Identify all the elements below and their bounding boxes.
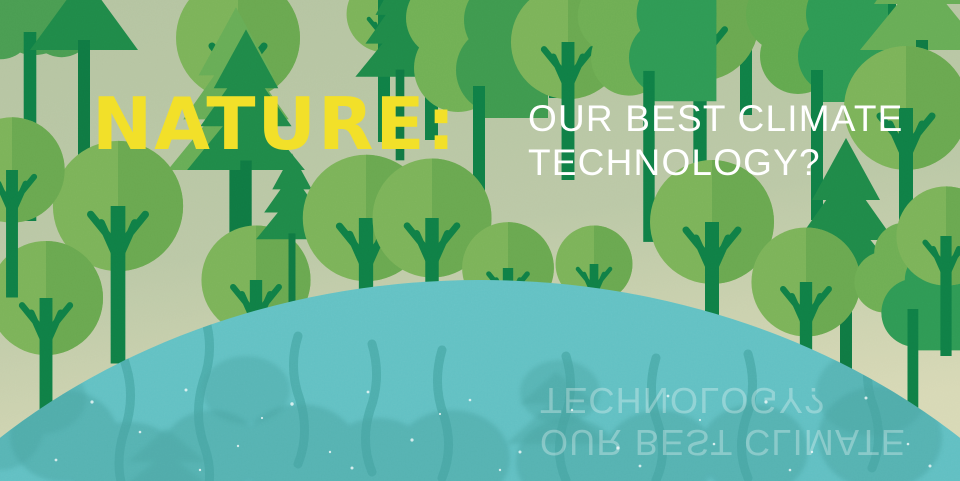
subtitle-line-2: TECHNOLOGY? — [528, 141, 904, 185]
subtitle-line-1: OUR BEST CLIMATE — [528, 98, 904, 139]
page-headline: NATURE: — [92, 88, 457, 160]
page-subtitle: OUR BEST CLIMATE TECHNOLOGY? — [528, 97, 904, 184]
forest-lake-illustration — [0, 0, 960, 481]
nature-climate-banner: NATURE: OUR BEST CLIMATE TECHNOLOGY? OUR… — [0, 0, 960, 481]
